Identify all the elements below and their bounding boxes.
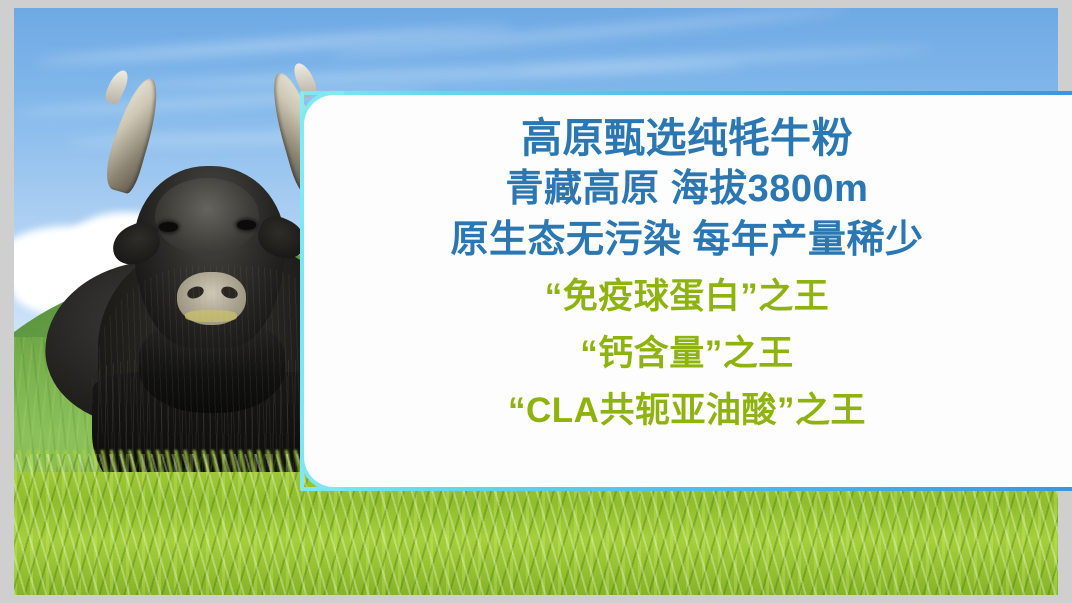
slide: 高原甄选纯牦牛粉 青藏高原 海拔3800m 原生态无污染 每年产量稀少 “免疫球… <box>0 0 1072 603</box>
text-card-content: 高原甄选纯牦牛粉 青藏高原 海拔3800m 原生态无污染 每年产量稀少 “免疫球… <box>302 93 1072 490</box>
claim-text-3: “CLA共轭亚油酸”之王 <box>508 382 866 439</box>
yak-eye-right <box>237 220 256 229</box>
claim-text-2: “钙含量”之王 <box>580 325 794 382</box>
yak-forehead <box>155 178 259 254</box>
yak-horn-left-tip <box>103 67 132 106</box>
claim-text-1: “免疫球蛋白”之王 <box>545 268 830 325</box>
eco-text: 原生态无污染 每年产量稀少 <box>450 215 923 266</box>
headline-text: 高原甄选纯牦牛粉 <box>521 113 853 164</box>
yak-eye-left <box>159 222 178 231</box>
origin-text: 青藏高原 海拔3800m <box>506 164 869 215</box>
